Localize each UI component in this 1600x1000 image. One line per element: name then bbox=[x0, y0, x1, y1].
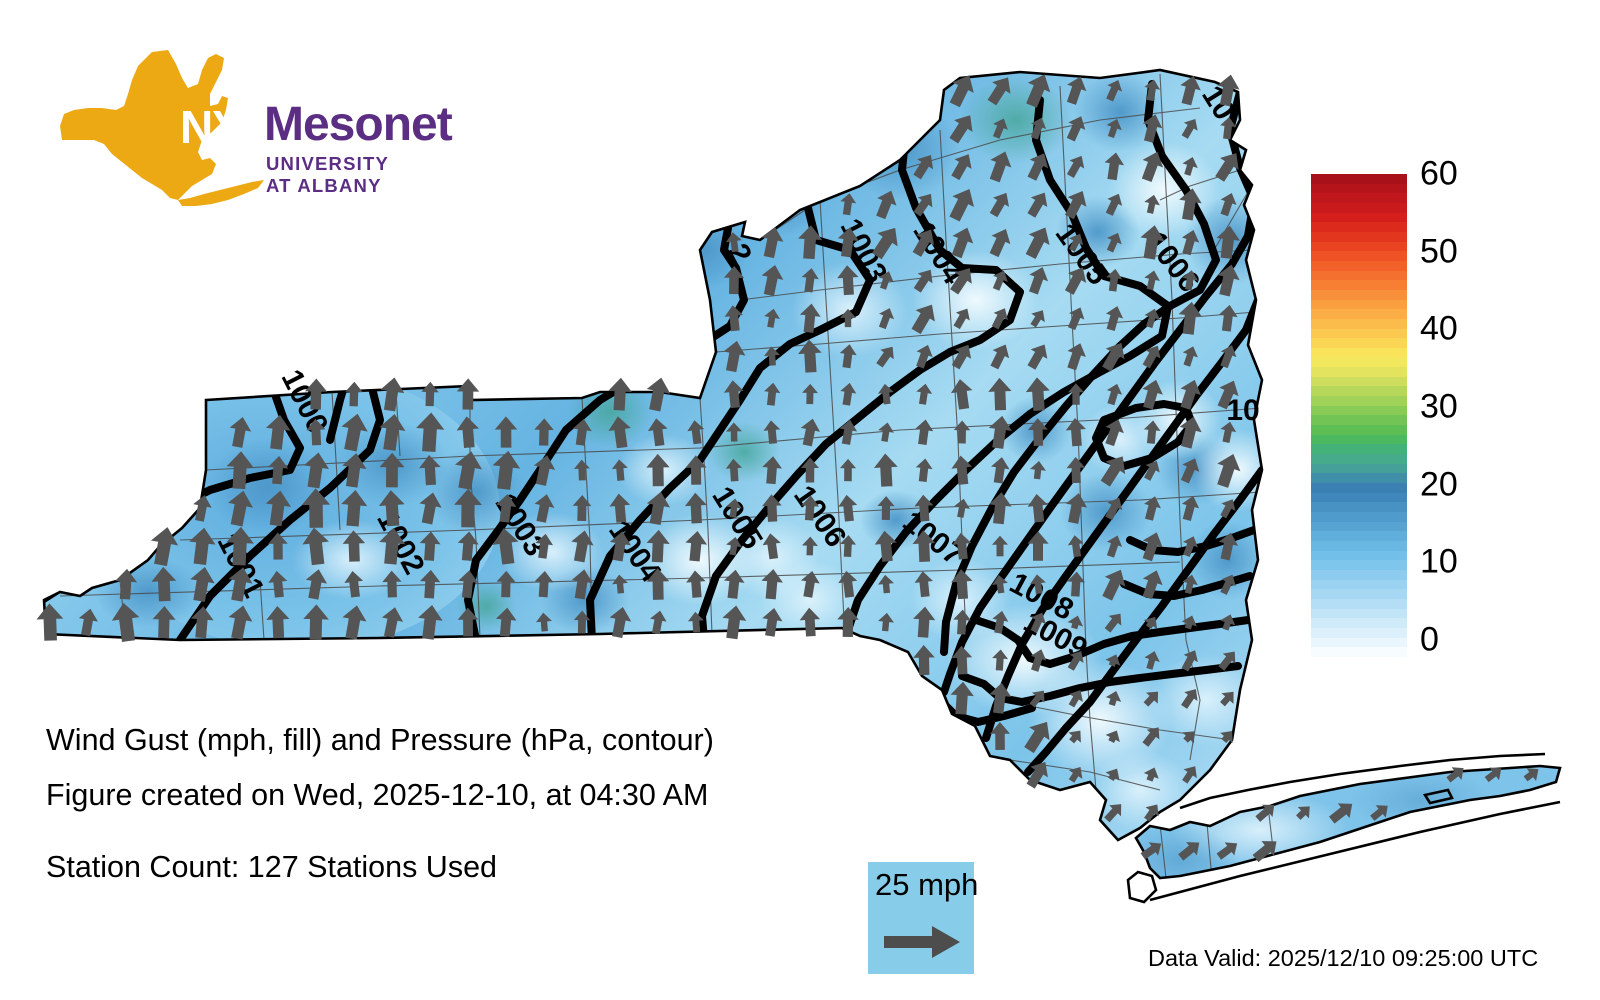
colorbar-band bbox=[1311, 348, 1407, 358]
nys-mesonet-logo: NYS Mesonet UNIVERSITY AT ALBANY bbox=[52, 48, 402, 208]
wind-legend-label: 25 mph bbox=[875, 867, 978, 903]
colorbar-tick-labels: 0102030405060 bbox=[1420, 174, 1530, 640]
colorbar-band bbox=[1311, 473, 1407, 483]
colorbar-tick-50: 50 bbox=[1420, 232, 1458, 271]
colorbar-band bbox=[1311, 647, 1407, 657]
figure-root: 1000100110021003100410051006100710081009… bbox=[0, 0, 1600, 1000]
colorbar-band bbox=[1311, 599, 1407, 609]
caption-station-count: Station Count: 127 Stations Used bbox=[46, 850, 497, 885]
colorbar-band bbox=[1311, 280, 1407, 290]
colorbar-band bbox=[1311, 222, 1407, 232]
colorbar-band bbox=[1311, 174, 1407, 184]
colorbar-band bbox=[1311, 531, 1407, 541]
colorbar-tick-30: 30 bbox=[1420, 388, 1458, 427]
colorbar-band bbox=[1311, 251, 1407, 261]
colorbar-band bbox=[1311, 377, 1407, 387]
colorbar-band bbox=[1311, 309, 1407, 319]
colorbar-band bbox=[1311, 396, 1407, 406]
colorbar-band bbox=[1311, 319, 1407, 329]
colorbar-band bbox=[1311, 367, 1407, 377]
colorbar-band bbox=[1311, 261, 1407, 271]
colorbar-band bbox=[1311, 541, 1407, 551]
colorbar-band bbox=[1311, 357, 1407, 367]
colorbar-band bbox=[1311, 628, 1407, 638]
colorbar-band bbox=[1311, 551, 1407, 561]
colorbar-band bbox=[1311, 415, 1407, 425]
caption-title: Wind Gust (mph, fill) and Pressure (hPa,… bbox=[46, 723, 714, 758]
colorbar-band bbox=[1311, 290, 1407, 300]
colorbar-band bbox=[1311, 193, 1407, 203]
colorbar-band bbox=[1311, 184, 1407, 194]
colorbar-band bbox=[1311, 213, 1407, 223]
colorbar-tick-60: 60 bbox=[1420, 155, 1458, 194]
colorbar-tick-0: 0 bbox=[1420, 621, 1439, 660]
colorbar-band bbox=[1311, 638, 1407, 648]
colorbar-band bbox=[1311, 493, 1407, 503]
colorbar-band bbox=[1311, 502, 1407, 512]
colorbar-band bbox=[1311, 338, 1407, 348]
caption-created: Figure created on Wed, 2025-12-10, at 04… bbox=[46, 778, 708, 813]
data-valid-text: Data Valid: 2025/12/10 09:25:00 UTC bbox=[1148, 945, 1538, 972]
logo-university-text: UNIVERSITY AT ALBANY bbox=[266, 153, 402, 197]
colorbar-band bbox=[1311, 300, 1407, 310]
colorbar-band bbox=[1311, 609, 1407, 619]
colorbar-band bbox=[1311, 242, 1407, 252]
gust-colorbar bbox=[1311, 174, 1407, 640]
colorbar-tick-20: 20 bbox=[1420, 465, 1458, 504]
colorbar-gradient bbox=[1311, 174, 1407, 640]
colorbar-band bbox=[1311, 483, 1407, 493]
colorbar-band bbox=[1311, 580, 1407, 590]
colorbar-band bbox=[1311, 435, 1407, 445]
colorbar-band bbox=[1311, 454, 1407, 464]
colorbar-tick-10: 10 bbox=[1420, 543, 1458, 582]
contour-label-10: 10 bbox=[1226, 394, 1259, 427]
colorbar-band bbox=[1311, 386, 1407, 396]
colorbar-band bbox=[1311, 271, 1407, 281]
colorbar-band bbox=[1311, 329, 1407, 339]
colorbar-band bbox=[1311, 512, 1407, 522]
colorbar-band bbox=[1311, 589, 1407, 599]
colorbar-band bbox=[1311, 570, 1407, 580]
wind-vector-legend: 25 mph bbox=[868, 862, 974, 974]
colorbar-band bbox=[1311, 425, 1407, 435]
colorbar-band bbox=[1311, 203, 1407, 213]
colorbar-tick-40: 40 bbox=[1420, 310, 1458, 349]
colorbar-band bbox=[1311, 232, 1407, 242]
logo-nys-text: NYS bbox=[180, 100, 272, 154]
colorbar-band bbox=[1311, 406, 1407, 416]
colorbar-band bbox=[1311, 560, 1407, 570]
colorbar-band bbox=[1311, 464, 1407, 474]
logo-mesonet-text: Mesonet bbox=[264, 97, 452, 152]
wind-legend-arrow-icon bbox=[884, 920, 960, 964]
colorbar-band bbox=[1311, 522, 1407, 532]
colorbar-band bbox=[1311, 618, 1407, 628]
colorbar-band bbox=[1311, 444, 1407, 454]
